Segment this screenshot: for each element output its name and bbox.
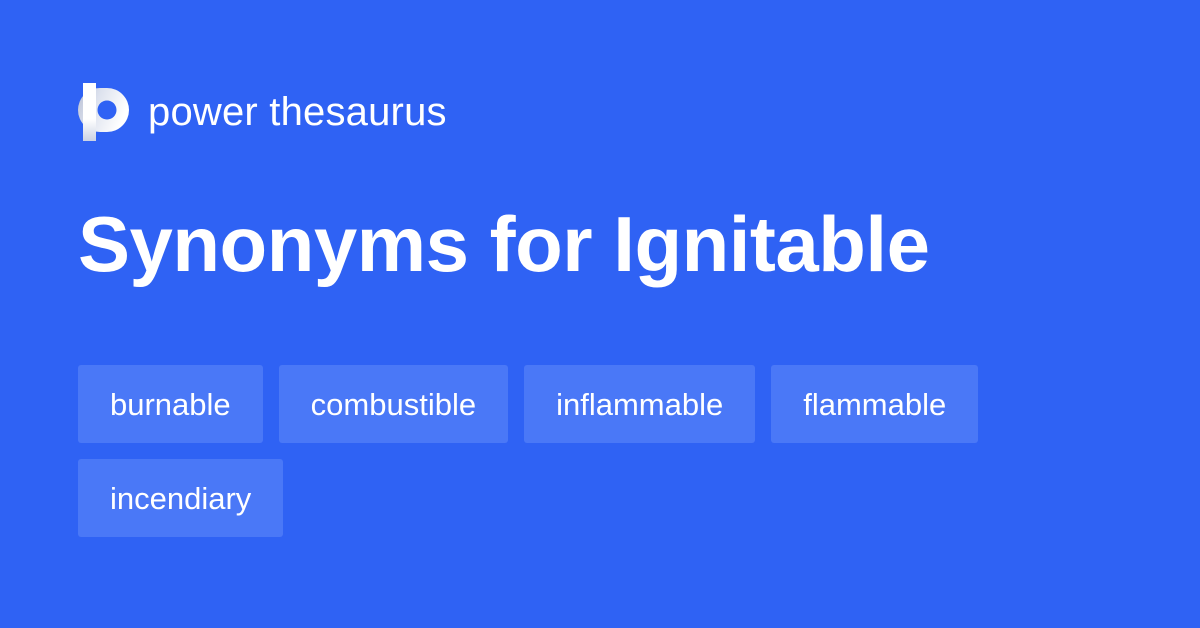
synonym-chip[interactable]: inflammable: [524, 365, 755, 443]
brand-name: power thesaurus: [148, 92, 447, 132]
synonym-chip-label: burnable: [110, 389, 231, 420]
page-title: Synonyms for Ignitable: [78, 196, 929, 292]
power-thesaurus-b-logo-icon: [78, 83, 130, 141]
synonym-chip[interactable]: combustible: [279, 365, 508, 443]
og-card: power thesaurus Synonyms for Ignitable b…: [0, 0, 1200, 628]
synonym-chip-list: burnable combustible inflammable flammab…: [78, 365, 1128, 537]
synonym-chip-label: incendiary: [110, 483, 251, 514]
brand-logo-row[interactable]: power thesaurus: [78, 82, 447, 142]
synonym-chip-label: flammable: [803, 389, 946, 420]
synonym-chip[interactable]: flammable: [771, 365, 978, 443]
synonym-chip[interactable]: burnable: [78, 365, 263, 443]
synonym-chip-label: combustible: [311, 389, 476, 420]
synonym-chip-label: inflammable: [556, 389, 723, 420]
synonym-chip[interactable]: incendiary: [78, 459, 283, 537]
